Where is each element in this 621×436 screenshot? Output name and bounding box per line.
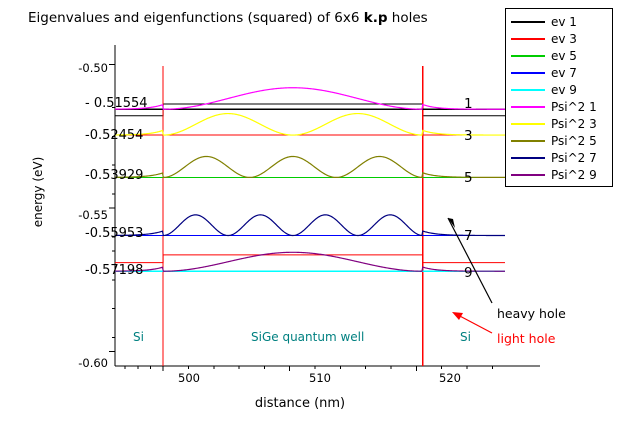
x-axis-label: distance (nm) xyxy=(160,396,440,411)
level-number: 1 xyxy=(464,96,473,112)
legend-color-swatch xyxy=(511,21,545,23)
energy-value-label: -0.55953 xyxy=(85,226,143,241)
legend-label: Psi^2 3 xyxy=(551,118,597,130)
legend-label: ev 3 xyxy=(551,33,577,45)
light-hole-callout: light hole xyxy=(497,331,555,346)
legend-label: ev 7 xyxy=(551,67,577,79)
legend-color-swatch xyxy=(511,106,545,108)
psi-squared-curve-5 xyxy=(115,156,505,177)
legend-color-swatch xyxy=(511,89,545,91)
psi-squared-curve-3 xyxy=(115,114,505,136)
legend-item: ev 3 xyxy=(511,30,612,47)
y-tick-label: -0.55 xyxy=(48,208,108,222)
x-tick-label: 500 xyxy=(164,371,214,385)
x-tick-label: 520 xyxy=(425,371,475,385)
level-number: 9 xyxy=(464,265,473,281)
region-label-right-si: Si xyxy=(460,330,471,344)
level-number: 5 xyxy=(464,170,473,186)
region-label-left-si: Si xyxy=(133,330,144,344)
legend-label: Psi^2 5 xyxy=(551,135,597,147)
figure-canvas: Eigenvalues and eigenfunctions (squared)… xyxy=(0,0,621,436)
psi-squared-curve-7 xyxy=(115,215,505,236)
legend-item: Psi^2 9 xyxy=(511,166,612,183)
y-tick-label: -0.50 xyxy=(48,61,108,75)
energy-value-label: -0.52454 xyxy=(85,128,143,143)
heavy-hole-callout: heavy hole xyxy=(497,306,566,321)
energy-value-label: -0.57198 xyxy=(85,263,143,278)
legend-label: ev 9 xyxy=(551,84,577,96)
y-axis-label: energy (eV) xyxy=(31,132,45,252)
legend-label: Psi^2 1 xyxy=(551,101,597,113)
legend-label: Psi^2 7 xyxy=(551,152,597,164)
legend-item: Psi^2 1 xyxy=(511,98,612,115)
level-number: 3 xyxy=(464,128,473,144)
legend-item: ev 7 xyxy=(511,64,612,81)
legend-color-swatch xyxy=(511,157,545,159)
legend-color-swatch xyxy=(511,123,545,125)
legend-item: Psi^2 3 xyxy=(511,115,612,132)
legend-item: ev 9 xyxy=(511,81,612,98)
light-hole-band-edge xyxy=(115,255,505,263)
legend-item: Psi^2 7 xyxy=(511,149,612,166)
legend-label: Psi^2 9 xyxy=(551,169,597,181)
legend-label: ev 1 xyxy=(551,16,577,28)
y-tick-label: -0.60 xyxy=(48,356,108,370)
energy-value-label: -0.53929 xyxy=(85,168,143,183)
legend-color-swatch xyxy=(511,72,545,74)
psi-squared-curve-1 xyxy=(115,88,505,110)
legend-color-swatch xyxy=(511,38,545,40)
energy-value-label: - 0.51554 xyxy=(85,96,148,111)
level-number: 7 xyxy=(464,228,473,244)
x-tick-label: 510 xyxy=(295,371,345,385)
legend-color-swatch xyxy=(511,55,545,57)
region-label-well: SiGe quantum well xyxy=(251,330,364,344)
legend-color-swatch xyxy=(511,174,545,176)
light-hole-arrow-head xyxy=(452,312,463,320)
legend-box: ev 1 ev 3 ev 5 ev 7 ev 9 Psi^2 1 Psi^2 3… xyxy=(505,8,613,187)
legend-item: ev 1 xyxy=(511,13,612,30)
legend-color-swatch xyxy=(511,140,545,142)
legend-label: ev 5 xyxy=(551,50,577,62)
legend-item: Psi^2 5 xyxy=(511,132,612,149)
legend-item: ev 5 xyxy=(511,47,612,64)
